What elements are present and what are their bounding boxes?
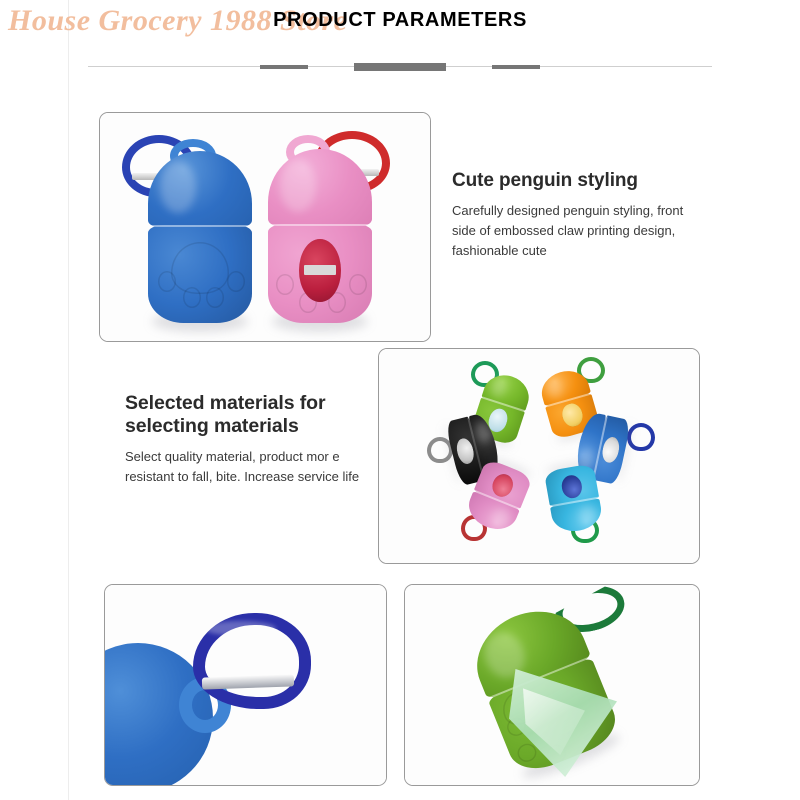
product-photo-bag-dispensing bbox=[405, 585, 699, 785]
product-photo-carabiner-detail bbox=[105, 585, 386, 785]
product-photo-color-range bbox=[379, 349, 699, 563]
divider-segment-right bbox=[492, 65, 540, 69]
blue-dispenser bbox=[148, 151, 252, 323]
page-title: PRODUCT PARAMETERS bbox=[0, 9, 800, 32]
page-header: House Grocery 1988 Store PRODUCT PARAMET… bbox=[0, 0, 800, 95]
feature-heading: Cute penguin styling bbox=[452, 170, 704, 192]
pink-dispenser bbox=[268, 149, 372, 323]
panel-two-dispensers bbox=[99, 112, 431, 342]
divider-segment-center bbox=[354, 63, 446, 71]
panel-color-range bbox=[378, 348, 700, 564]
feature-selected-materials: Selected materials for selecting materia… bbox=[125, 392, 373, 487]
feature-heading: Selected materials for selecting materia… bbox=[125, 392, 373, 438]
feature-body: Carefully designed penguin styling, fron… bbox=[452, 201, 704, 260]
blue-carabiner-icon bbox=[193, 613, 311, 709]
pink-dispenser-window bbox=[299, 239, 341, 302]
feature-body: Select quality material, product mor e r… bbox=[125, 447, 373, 487]
feature-cute-penguin-styling: Cute penguin styling Carefully designed … bbox=[452, 170, 704, 261]
product-photo-two-dispensers bbox=[100, 113, 430, 341]
panel-bag-dispensing bbox=[404, 584, 700, 786]
cyan-dispenser-window bbox=[560, 473, 584, 499]
section-divider bbox=[88, 62, 712, 72]
cyan-dispenser bbox=[544, 463, 604, 535]
blue-unit-carabiner-icon bbox=[627, 423, 655, 451]
divider-segment-left bbox=[260, 65, 308, 69]
panel-carabiner-detail bbox=[104, 584, 387, 786]
